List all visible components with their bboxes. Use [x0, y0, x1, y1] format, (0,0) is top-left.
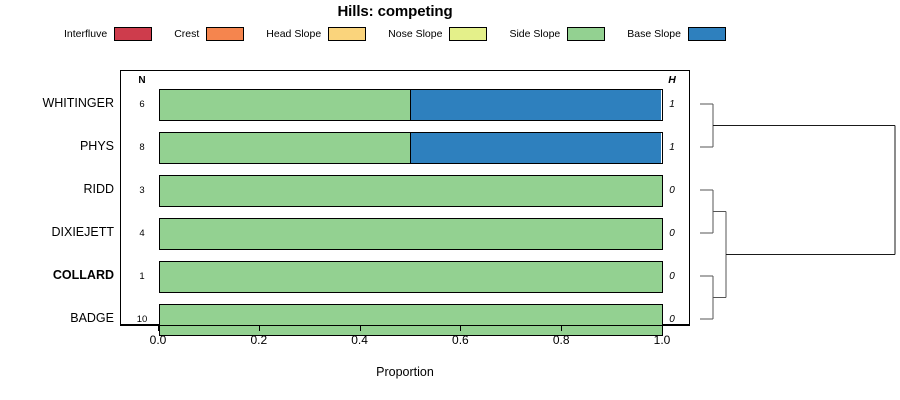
- h-column-header: H: [661, 74, 683, 86]
- y-axis-label: BADGE: [2, 311, 114, 325]
- legend-color-swatch: [206, 27, 244, 41]
- n-value: 3: [129, 185, 155, 196]
- h-value: 0: [661, 271, 683, 282]
- x-axis-tick-label: 0.6: [440, 333, 480, 347]
- legend-color-swatch: [449, 27, 487, 41]
- legend: InterfluveCrestHead SlopeNose SlopeSide …: [0, 27, 790, 41]
- legend-color-swatch: [114, 27, 152, 41]
- stacked-bar: [159, 218, 663, 250]
- y-axis-labels: WHITINGERPHYSRIDDDIXIEJETTCOLLARDBADGE: [0, 70, 114, 325]
- x-axis: 0.00.20.40.60.81.0: [120, 325, 690, 365]
- n-value: 6: [129, 99, 155, 110]
- bar-segment: [160, 90, 411, 120]
- x-axis-tick-label: 0.2: [239, 333, 279, 347]
- x-axis-tick-label: 0.4: [340, 333, 380, 347]
- bar-segment: [410, 133, 661, 163]
- legend-item: Side Slope: [509, 27, 605, 41]
- bar-segment: [410, 90, 661, 120]
- bar-segment: [160, 133, 411, 163]
- x-axis-tick: [259, 325, 260, 331]
- stacked-bar: [159, 132, 663, 164]
- bar-segment: [160, 176, 662, 206]
- stacked-bar: [159, 175, 663, 207]
- bar-segment: [160, 262, 662, 292]
- legend-item-label: Crest: [174, 28, 199, 40]
- stacked-bar: [159, 261, 663, 293]
- chart-root: Hills: competing InterfluveCrestHead Slo…: [0, 0, 900, 400]
- dendrogram: [695, 70, 900, 325]
- y-axis-label: DIXIEJETT: [2, 225, 114, 239]
- y-axis-label: COLLARD: [2, 268, 114, 282]
- legend-item-label: Nose Slope: [388, 28, 442, 40]
- legend-item-label: Interfluve: [64, 28, 107, 40]
- stacked-bar: [159, 89, 663, 121]
- x-axis-tick: [360, 325, 361, 331]
- n-value: 8: [129, 142, 155, 153]
- h-value: 1: [661, 142, 683, 153]
- h-value: 0: [661, 185, 683, 196]
- n-value: 10: [129, 314, 155, 325]
- x-axis-tick: [460, 325, 461, 331]
- x-axis-tick-label: 0.0: [138, 333, 178, 347]
- x-axis-tick-label: 0.8: [541, 333, 581, 347]
- x-axis-tick: [561, 325, 562, 331]
- n-value: 1: [129, 271, 155, 282]
- h-value: 0: [661, 314, 683, 325]
- legend-item: Interfluve: [64, 27, 152, 41]
- x-axis-tick: [662, 325, 663, 331]
- legend-color-swatch: [688, 27, 726, 41]
- y-axis-label: RIDD: [2, 182, 114, 196]
- dendrogram-svg: [695, 70, 900, 325]
- bar-segment: [160, 219, 662, 249]
- legend-color-swatch: [328, 27, 366, 41]
- x-axis-line: [120, 325, 690, 326]
- legend-item: Head Slope: [266, 27, 366, 41]
- h-value: 0: [661, 228, 683, 239]
- plot-panel: N H 6181304010100: [120, 70, 690, 325]
- h-value: 1: [661, 99, 683, 110]
- legend-item-label: Base Slope: [627, 28, 681, 40]
- legend-color-swatch: [567, 27, 605, 41]
- y-axis-label: WHITINGER: [2, 96, 114, 110]
- page-title: Hills: competing: [0, 3, 790, 20]
- x-axis-title: Proportion: [120, 365, 690, 379]
- n-value: 4: [129, 228, 155, 239]
- x-axis-tick: [158, 325, 159, 331]
- n-column-header: N: [129, 75, 155, 86]
- y-axis-label: PHYS: [2, 139, 114, 153]
- legend-item: Crest: [174, 27, 244, 41]
- x-axis-tick-label: 1.0: [642, 333, 682, 347]
- legend-item: Base Slope: [627, 27, 726, 41]
- legend-item: Nose Slope: [388, 27, 487, 41]
- legend-item-label: Side Slope: [509, 28, 560, 40]
- legend-item-label: Head Slope: [266, 28, 321, 40]
